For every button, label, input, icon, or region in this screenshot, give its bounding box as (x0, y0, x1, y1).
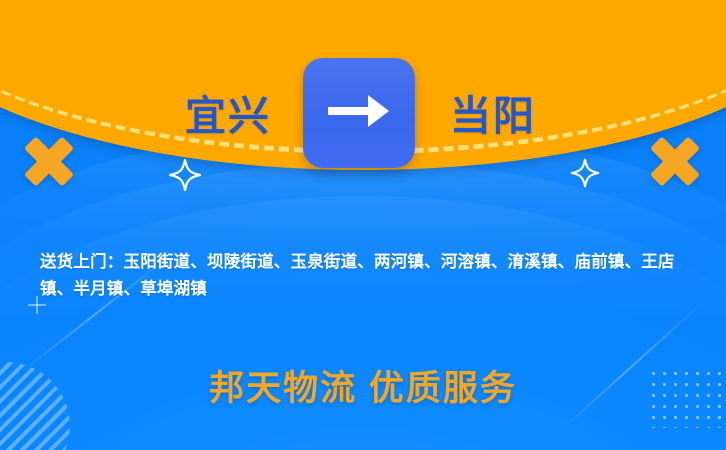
sparkle-star-icon-left (168, 158, 202, 197)
arrow-right-icon (326, 89, 392, 138)
logistics-route-banner: 宜兴 当阳 送货上门：玉阳街道、坝陵街道、玉泉街道、两河镇、河溶镇、淯溪镇、庙前… (0, 0, 726, 450)
origin-city-label: 宜兴 (185, 96, 271, 137)
x-cross-icon-right (648, 134, 702, 188)
x-cross-icon-left (22, 134, 76, 188)
destination-city-label: 当阳 (450, 96, 536, 137)
company-slogan: 邦天物流 优质服务 (0, 360, 726, 411)
route-arrow-badge (303, 58, 415, 168)
delivery-areas-text: 送货上门：玉阳街道、坝陵街道、玉泉街道、两河镇、河溶镇、淯溪镇、庙前镇、王店镇、… (40, 249, 692, 302)
sparkle-star-icon-right (570, 158, 600, 193)
